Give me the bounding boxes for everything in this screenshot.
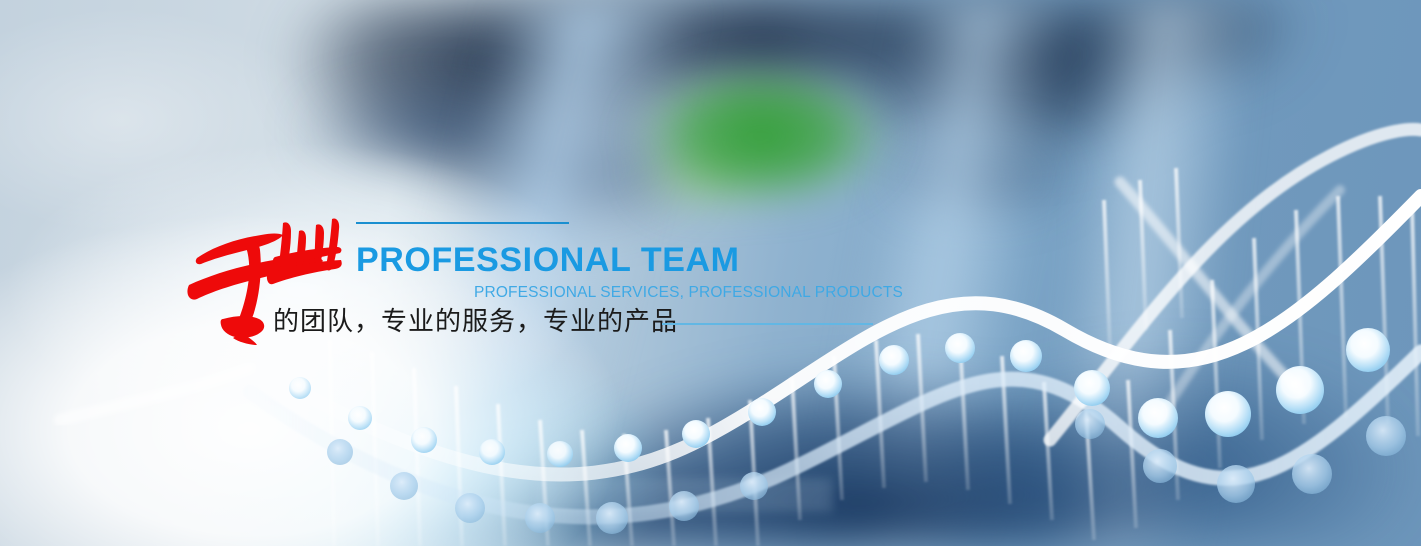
subheadline-text: PROFESSIONAL SERVICES, PROFESSIONAL PROD… [474,285,903,301]
divider-line-bottom [662,323,873,325]
professional-team-banner: PROFESSIONAL TEAM PROFESSIONAL SERVICES,… [0,0,1421,546]
divider-line-top [356,222,569,224]
banner-content: PROFESSIONAL TEAM PROFESSIONAL SERVICES,… [0,0,1421,546]
headline-text: PROFESSIONAL TEAM [356,243,740,277]
chinese-tagline-text: 的团队，专业的服务，专业的产品 [273,306,678,339]
